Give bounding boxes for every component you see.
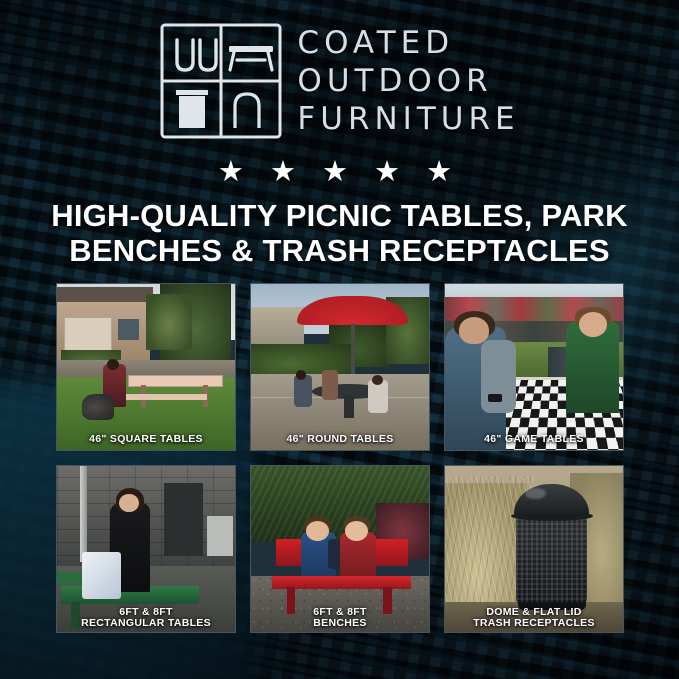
- caption-line-2: RECTANGULAR TABLES: [60, 618, 232, 630]
- brand-logo: COATED OUTDOOR FURNITURE: [0, 22, 679, 140]
- product-tile-rectangular-tables[interactable]: 6FT & 8FT RECTANGULAR TABLES: [56, 465, 236, 633]
- product-tile-trash-receptacles[interactable]: DOME & FLAT LID TRASH RECEPTACLES: [444, 465, 624, 633]
- product-banner-image: COATED OUTDOOR FURNITURE ★ ★ ★ ★ ★ HIGH-…: [0, 0, 679, 679]
- brand-name-line-3: FURNITURE: [297, 104, 519, 135]
- product-tile-caption: 46" ROUND TABLES: [251, 434, 429, 446]
- product-tile-caption: 6FT & 8FT BENCHES: [251, 607, 429, 631]
- page-title-line-2: BENCHES & TRASH RECEPTACLES: [30, 233, 649, 268]
- product-tile-caption: 46" GAME TABLES: [445, 434, 623, 446]
- brand-name: COATED OUTDOOR FURNITURE: [297, 22, 519, 135]
- page-title-line-1: HIGH-QUALITY PICNIC TABLES, PARK: [30, 198, 649, 233]
- product-tile-benches[interactable]: 6FT & 8FT BENCHES: [250, 465, 430, 633]
- product-tile-square-tables[interactable]: 46" SQUARE TABLES: [56, 283, 236, 451]
- product-tile-caption: DOME & FLAT LID TRASH RECEPTACLES: [445, 607, 623, 631]
- product-tile-round-tables[interactable]: 46" ROUND TABLES: [250, 283, 430, 451]
- product-tile-caption: 6FT & 8FT RECTANGULAR TABLES: [57, 607, 235, 631]
- photo-square-tables: [57, 284, 235, 450]
- product-grid: 46" SQUARE TABLES: [56, 283, 624, 633]
- page-title: HIGH-QUALITY PICNIC TABLES, PARK BENCHES…: [30, 198, 649, 268]
- product-tile-caption: 46" SQUARE TABLES: [57, 434, 235, 446]
- picnic-table-bench-logo-icon: [159, 22, 283, 140]
- five-star-rating-icon: ★ ★ ★ ★ ★: [0, 158, 679, 187]
- caption-line-2: BENCHES: [254, 618, 426, 630]
- brand-name-line-2: OUTDOOR: [297, 66, 519, 97]
- brand-name-line-1: COATED: [297, 28, 519, 59]
- product-tile-game-tables[interactable]: 46" GAME TABLES: [444, 283, 624, 451]
- caption-line-1: 46" ROUND TABLES: [254, 434, 426, 446]
- caption-line-1: 46" SQUARE TABLES: [60, 434, 232, 446]
- photo-game-tables: [445, 284, 623, 450]
- caption-line-2: TRASH RECEPTACLES: [448, 618, 620, 630]
- photo-round-tables: [251, 284, 429, 450]
- caption-line-1: 46" GAME TABLES: [448, 434, 620, 446]
